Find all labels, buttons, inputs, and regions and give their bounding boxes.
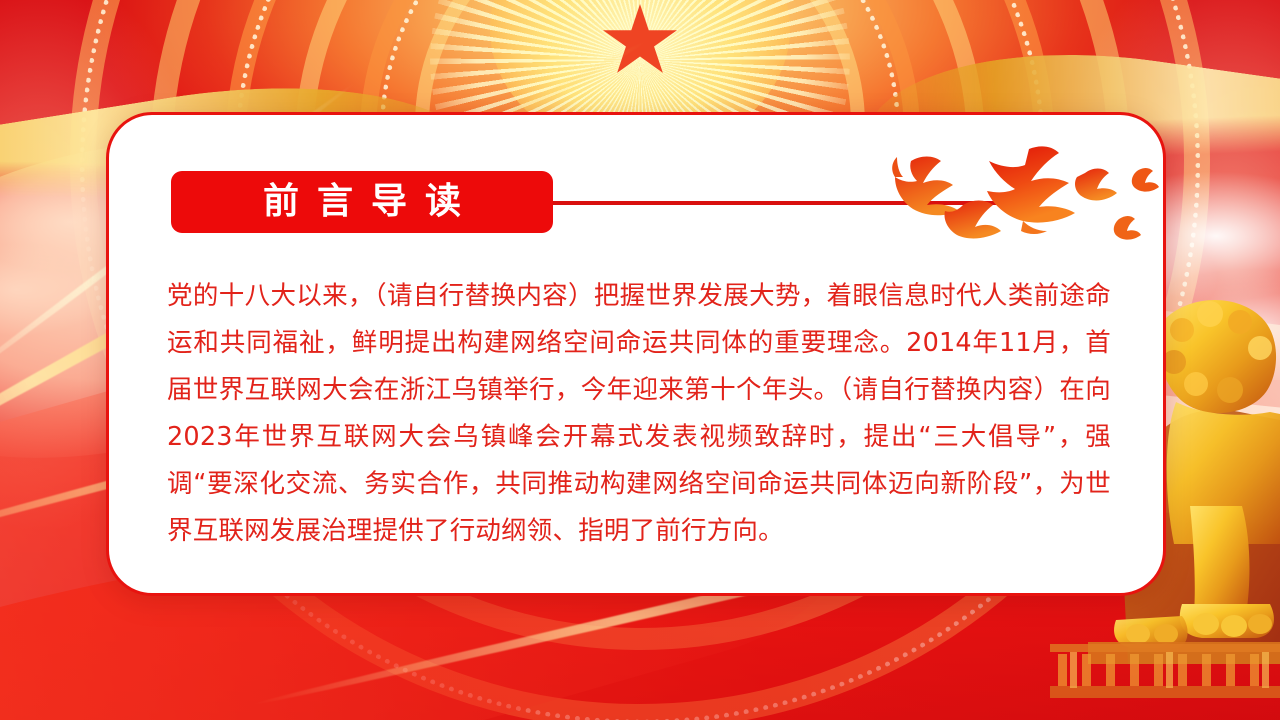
section-title-badge: 前言导读 — [171, 171, 553, 233]
presentation-slide: 前言导读 — [0, 0, 1280, 720]
section-title-text: 前言导读 — [245, 184, 479, 220]
flying-doves-icon — [889, 143, 1165, 249]
content-card: 前言导读 — [106, 112, 1166, 596]
stone-balustrade-icon — [1050, 642, 1280, 698]
preface-body-text: 党的十八大以来，（请自行替换内容）把握世界发展大势，着眼信息时代人类前途命运和共… — [167, 273, 1111, 555]
